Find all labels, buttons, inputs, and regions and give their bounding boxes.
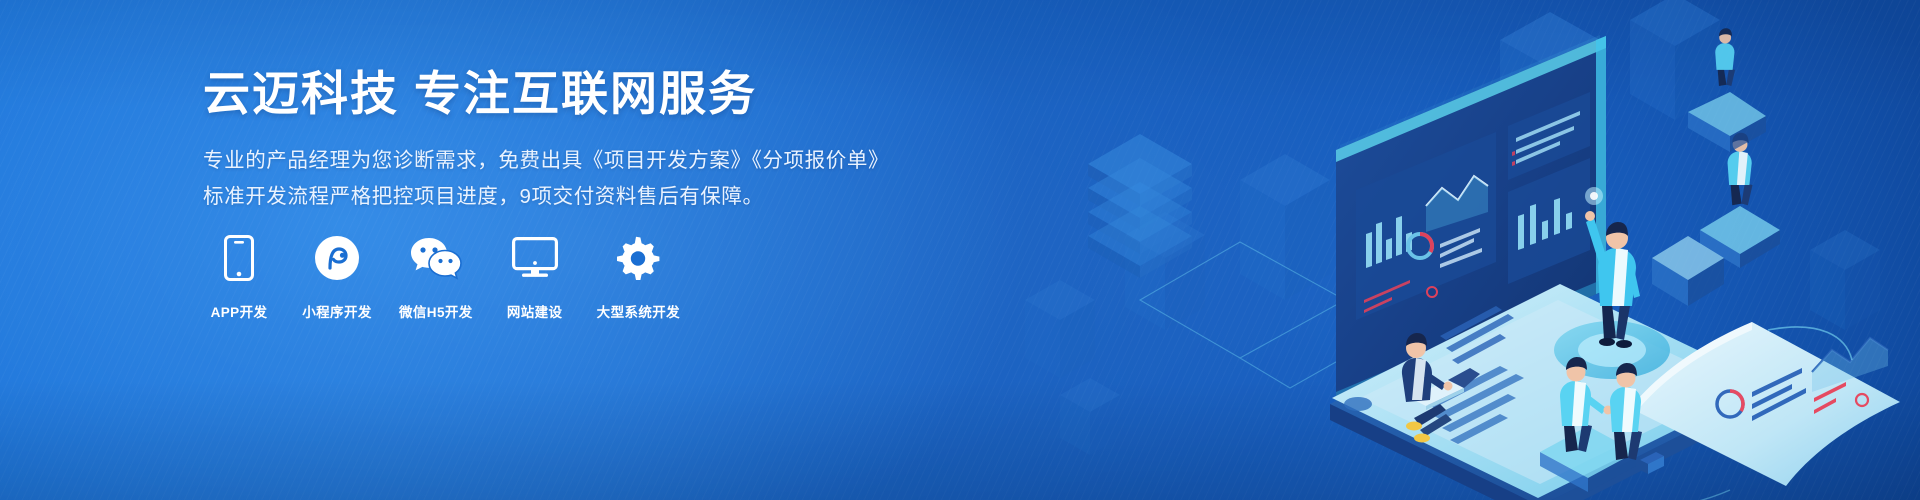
service-item-wechat[interactable]: 微信H5开发 xyxy=(399,232,473,321)
service-label-app: APP开发 xyxy=(211,301,268,321)
illustration-container xyxy=(940,0,1920,500)
service-item-system[interactable]: 大型系统开发 xyxy=(597,232,680,321)
service-icon-row: APP开发 小程序开发 xyxy=(203,232,706,321)
service-item-miniprogram[interactable]: 小程序开发 xyxy=(301,232,373,321)
service-label-wechat: 微信H5开发 xyxy=(399,301,473,321)
subtitle-block: 专业的产品经理为您诊断需求，免费出具《项目开发方案》《分项报价单》 标准开发流程… xyxy=(203,143,903,214)
monitor-icon xyxy=(499,232,571,284)
banner-content: 云迈科技 专注互联网服务 专业的产品经理为您诊断需求，免费出具《项目开发方案》《… xyxy=(203,66,903,214)
right-pedestals xyxy=(1652,133,1780,306)
mini-program-icon xyxy=(301,232,373,284)
server-stack xyxy=(1088,134,1192,278)
mobile-phone-icon xyxy=(203,232,275,284)
hero-banner: 云迈科技 专注互联网服务 专业的产品经理为您诊断需求，免费出具《项目开发方案》《… xyxy=(0,0,1920,500)
service-label-miniprogram: 小程序开发 xyxy=(302,301,372,321)
page-title: 云迈科技 专注互联网服务 xyxy=(203,66,903,121)
service-label-system: 大型系统开发 xyxy=(597,301,680,321)
service-item-app[interactable]: APP开发 xyxy=(203,232,275,321)
wechat-icon xyxy=(400,232,472,284)
subtitle-line-1: 专业的产品经理为您诊断需求，免费出具《项目开发方案》《分项报价单》 xyxy=(203,143,903,178)
service-label-website: 网站建设 xyxy=(507,301,563,321)
service-item-website[interactable]: 网站建设 xyxy=(499,232,571,321)
subtitle-line-2: 标准开发流程严格把控项目进度，9项交付资料售后有保障。 xyxy=(203,179,903,214)
gear-icon xyxy=(602,232,674,284)
